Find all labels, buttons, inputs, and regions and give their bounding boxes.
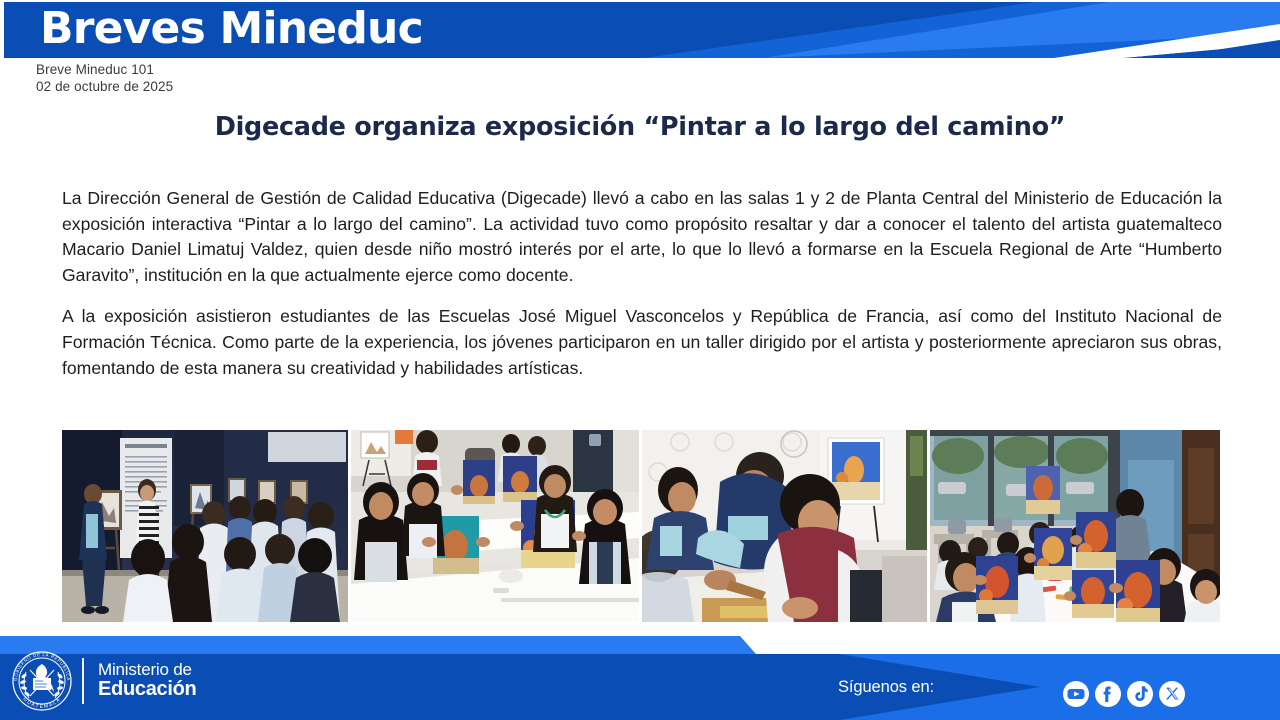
issue-date: 02 de octubre de 2025 — [36, 79, 173, 96]
article-paragraph-1: La Dirección General de Gestión de Calid… — [62, 186, 1222, 288]
slide-page: Breves Mineduc Breve Mineduc 101 02 de o… — [0, 0, 1280, 720]
article-body: La Dirección General de Gestión de Calid… — [62, 186, 1222, 381]
seal-bottom-text: GUATEMALA — [21, 696, 62, 710]
photo-exhibition-hall — [62, 430, 348, 622]
youtube-icon[interactable] — [1062, 680, 1090, 708]
ministry-line-2: Educación — [98, 679, 196, 701]
ministry-line-1: Ministerio de — [98, 661, 196, 679]
ministry-brand: GOBIERNO DE LA REPÚBLICA GUATEMALA — [8, 650, 196, 712]
photo-workshop-group — [930, 430, 1220, 622]
issue-meta: Breve Mineduc 101 02 de octubre de 2025 — [36, 62, 173, 95]
brand-divider — [82, 658, 84, 704]
photo-students-showing-paintings — [351, 430, 639, 622]
photo-gallery — [62, 430, 1220, 622]
header-banner: Breves Mineduc — [4, 2, 1280, 58]
tiktok-icon[interactable] — [1126, 680, 1154, 708]
page-title: Breves Mineduc — [40, 2, 423, 58]
issue-number: Breve Mineduc 101 — [36, 62, 173, 79]
follow-us-label: Síguenos en: — [838, 678, 934, 697]
facebook-icon[interactable] — [1094, 680, 1122, 708]
photo-artist-guiding-student — [642, 430, 927, 622]
social-links — [1062, 680, 1186, 708]
svg-text:GUATEMALA: GUATEMALA — [21, 696, 62, 710]
article-title: Digecade organiza exposición “Pintar a l… — [0, 112, 1280, 142]
x-twitter-icon[interactable] — [1158, 680, 1186, 708]
guatemala-government-seal: GOBIERNO DE LA REPÚBLICA GUATEMALA — [8, 650, 76, 712]
article-paragraph-2: A la exposición asistieron estudiantes d… — [62, 304, 1222, 381]
ministry-name: Ministerio de Educación — [98, 661, 196, 701]
